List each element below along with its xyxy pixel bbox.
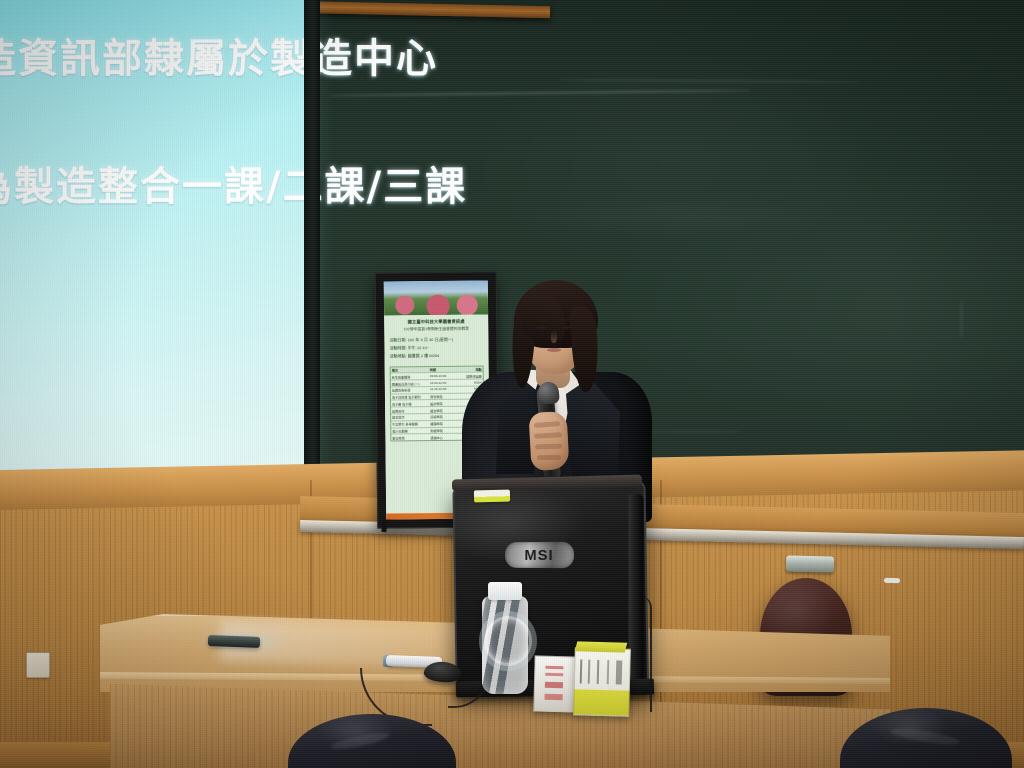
mouth <box>547 348 561 352</box>
finger <box>537 455 561 460</box>
screen-right-edge <box>304 0 320 500</box>
remote-control[interactable] <box>208 635 260 648</box>
yellow-box-label <box>580 659 623 684</box>
cell: 財經學院 <box>429 427 457 433</box>
laptop-sticker <box>474 490 510 503</box>
projection-screen: 造資訊部隸屬於製造中心 為製造整合一課/二課/三課 <box>0 0 308 494</box>
cable <box>640 596 652 712</box>
cell: 資訊學院 <box>429 414 457 420</box>
slide-text-line-2: 為製造整合一課/二課/三課 <box>0 154 467 212</box>
msi-brand-logo: MSI <box>505 542 574 568</box>
cell: 新生始業輔導 <box>391 373 429 379</box>
finger <box>535 444 562 450</box>
cell: 個人化服務 <box>391 428 429 434</box>
chalk-smudge <box>650 430 740 433</box>
cell: 論文寫作 <box>391 414 429 420</box>
projection-screen-surface: 造資訊部隸屬於製造中心 為製造整合一課/二課/三課 <box>0 0 308 494</box>
cell: 館際合作 <box>391 407 429 413</box>
cell: 館藏查詢系統 <box>391 387 429 393</box>
cell: 10:10-11:00 <box>429 380 457 386</box>
cell: 圖書館資源介紹 (一) <box>391 380 429 386</box>
col-header-session: 場次 <box>391 367 429 373</box>
chalk-piece[interactable] <box>884 578 900 583</box>
cell: 設計學院 <box>429 400 457 406</box>
bottle-cap <box>488 582 522 600</box>
cell: 數位學習 <box>391 434 429 440</box>
col-header-time: 時間 <box>429 366 457 372</box>
bottle-rings <box>484 616 532 666</box>
cell: 電子資料庫 電子期刊 <box>391 394 429 400</box>
blackboard-eraser[interactable] <box>786 555 834 572</box>
cell: 護理學院 <box>429 421 457 427</box>
slide-text-line-1: 造資訊部隸屬於製造中心 <box>0 26 438 84</box>
wall-outlet <box>26 652 50 678</box>
white-box-label <box>545 666 564 700</box>
cell: 通識中心 <box>429 434 457 440</box>
cell: 電子書 電子報 <box>391 401 429 407</box>
cell: 商管學院 <box>429 393 457 399</box>
presenter-hand <box>529 411 570 471</box>
cell: 語文學院 <box>429 407 457 413</box>
lecture-hall-scene: 造資訊部隸屬於製造中心 為製造整合一課/二課/三課 國立臺中科技大學圖書資訊處 … <box>0 0 1024 768</box>
yellow-box-lid <box>575 641 628 652</box>
chalk-smudge <box>960 300 963 338</box>
nose <box>551 330 557 343</box>
cell: 09:00-10:00 <box>429 373 457 379</box>
water-bottle[interactable] <box>482 582 528 694</box>
cell: 11:10-12:00 <box>429 387 457 393</box>
cell: 引文索引 參考服務 <box>391 421 429 427</box>
